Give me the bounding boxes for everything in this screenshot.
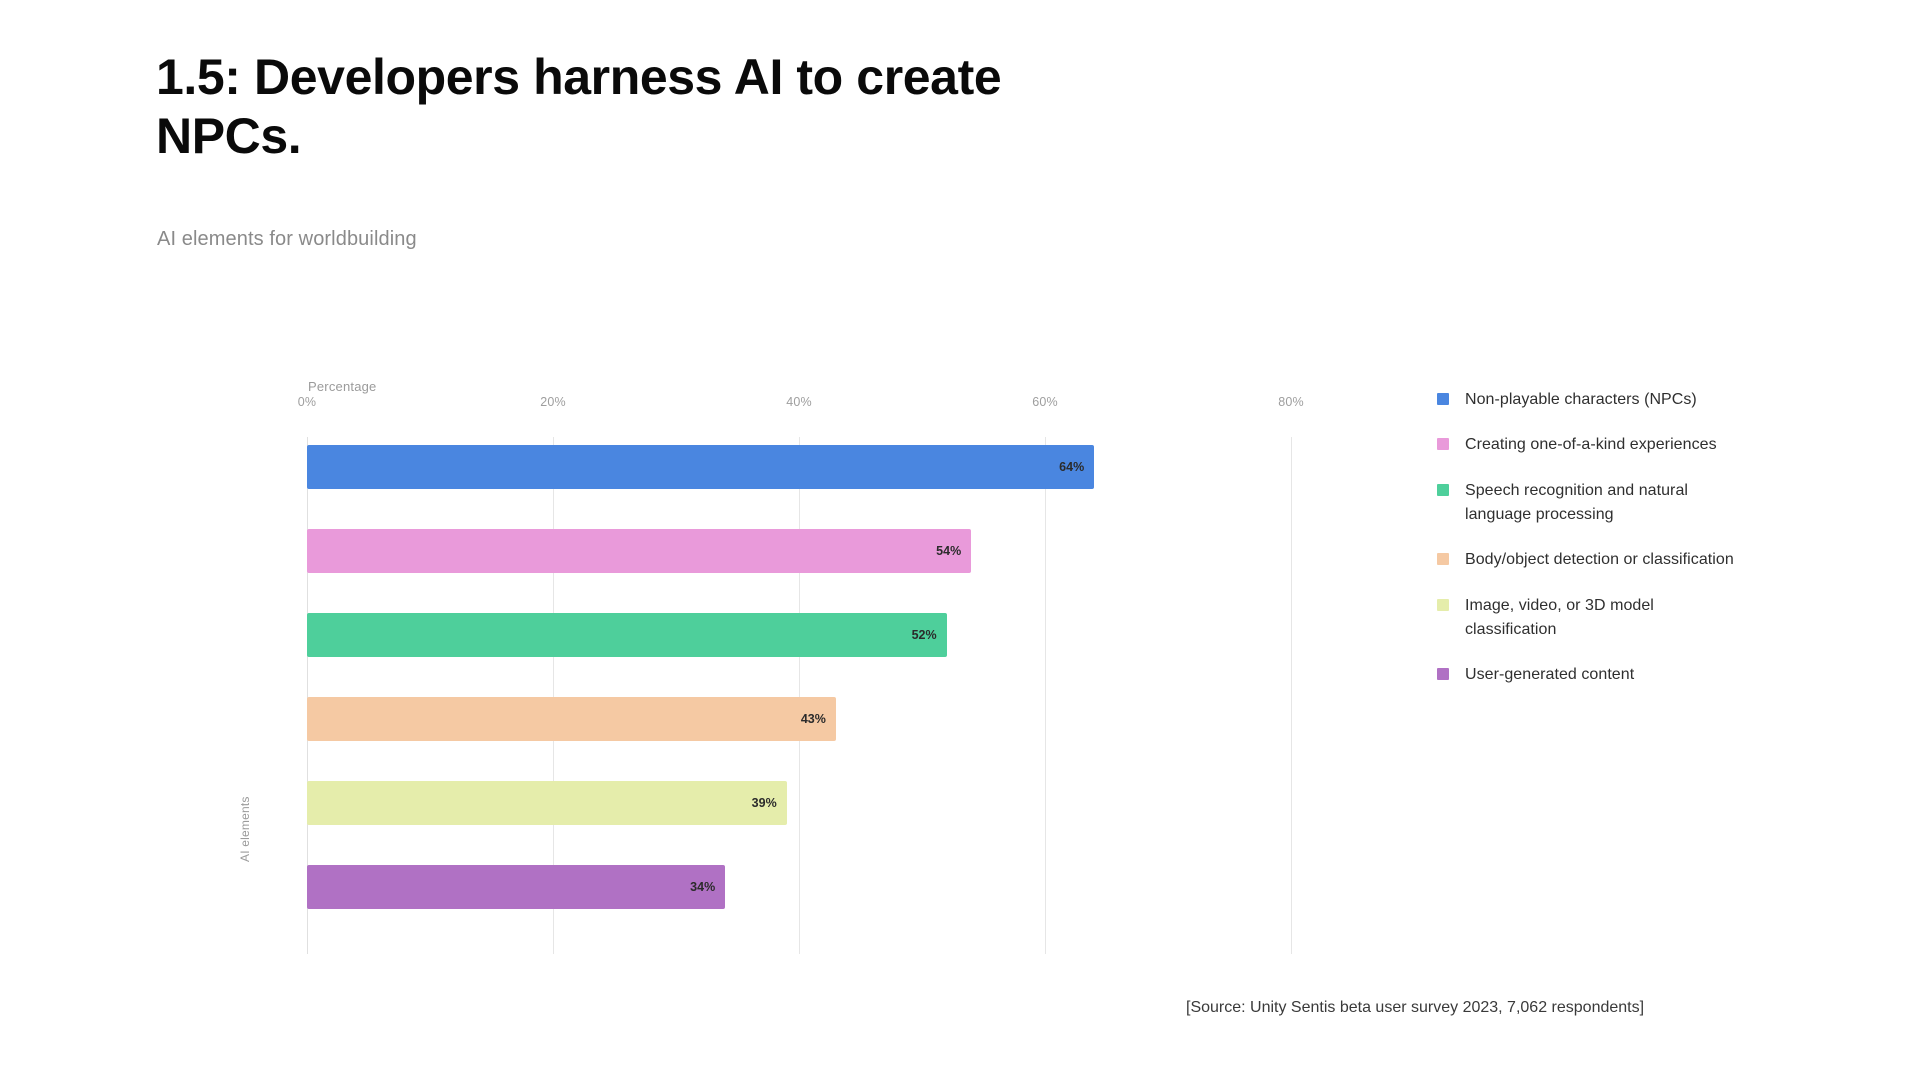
bar-row: 39%: [307, 781, 1307, 825]
legend-swatch-icon: [1437, 668, 1449, 680]
legend-item-label: Image, video, or 3D model classification: [1465, 594, 1737, 643]
legend-item[interactable]: User-generated content: [1437, 663, 1737, 687]
legend-swatch-icon: [1437, 484, 1449, 496]
bar-value-label: 52%: [307, 613, 947, 657]
chart-legend: Non-playable characters (NPCs)Creating o…: [1437, 388, 1737, 709]
legend-item[interactable]: Creating one-of-a-kind experiences: [1437, 433, 1737, 457]
legend-item-label: Speech recognition and natural language …: [1465, 479, 1737, 528]
legend-item[interactable]: Body/object detection or classification: [1437, 548, 1737, 572]
legend-item[interactable]: Image, video, or 3D model classification: [1437, 594, 1737, 643]
legend-item-label: Creating one-of-a-kind experiences: [1465, 433, 1717, 457]
legend-swatch-icon: [1437, 438, 1449, 450]
legend-item-label: Non-playable characters (NPCs): [1465, 388, 1697, 412]
bar-value-label: 34%: [307, 865, 725, 909]
x-axis-caption: Percentage: [308, 379, 377, 394]
legend-item[interactable]: Non-playable characters (NPCs): [1437, 388, 1737, 412]
legend-item-label: Body/object detection or classification: [1465, 548, 1734, 572]
bar-row: 43%: [307, 697, 1307, 741]
bar-value-label: 39%: [307, 781, 787, 825]
legend-item-label: User-generated content: [1465, 663, 1634, 687]
bar-row: 34%: [307, 865, 1307, 909]
x-tick-label: 40%: [786, 395, 812, 409]
y-axis-label: AI elements: [238, 796, 252, 862]
bar-row: 52%: [307, 613, 1307, 657]
bar-value-label: 64%: [307, 445, 1094, 489]
source-note: [Source: Unity Sentis beta user survey 2…: [1186, 996, 1666, 1020]
x-tick-label: 20%: [540, 395, 566, 409]
legend-item[interactable]: Speech recognition and natural language …: [1437, 479, 1737, 528]
slide-root: 1.5: Developers harness AI to create NPC…: [0, 0, 1920, 1081]
bar-series: 64%54%52%43%39%34%: [307, 437, 1307, 954]
bar-row: 64%: [307, 445, 1307, 489]
x-tick-label: 60%: [1032, 395, 1058, 409]
legend-swatch-icon: [1437, 599, 1449, 611]
x-tick-label: 80%: [1278, 395, 1304, 409]
legend-swatch-icon: [1437, 553, 1449, 565]
legend-swatch-icon: [1437, 393, 1449, 405]
bar-row: 54%: [307, 529, 1307, 573]
x-tick-label: 0%: [298, 395, 316, 409]
bar-value-label: 43%: [307, 697, 836, 741]
bar-value-label: 54%: [307, 529, 971, 573]
